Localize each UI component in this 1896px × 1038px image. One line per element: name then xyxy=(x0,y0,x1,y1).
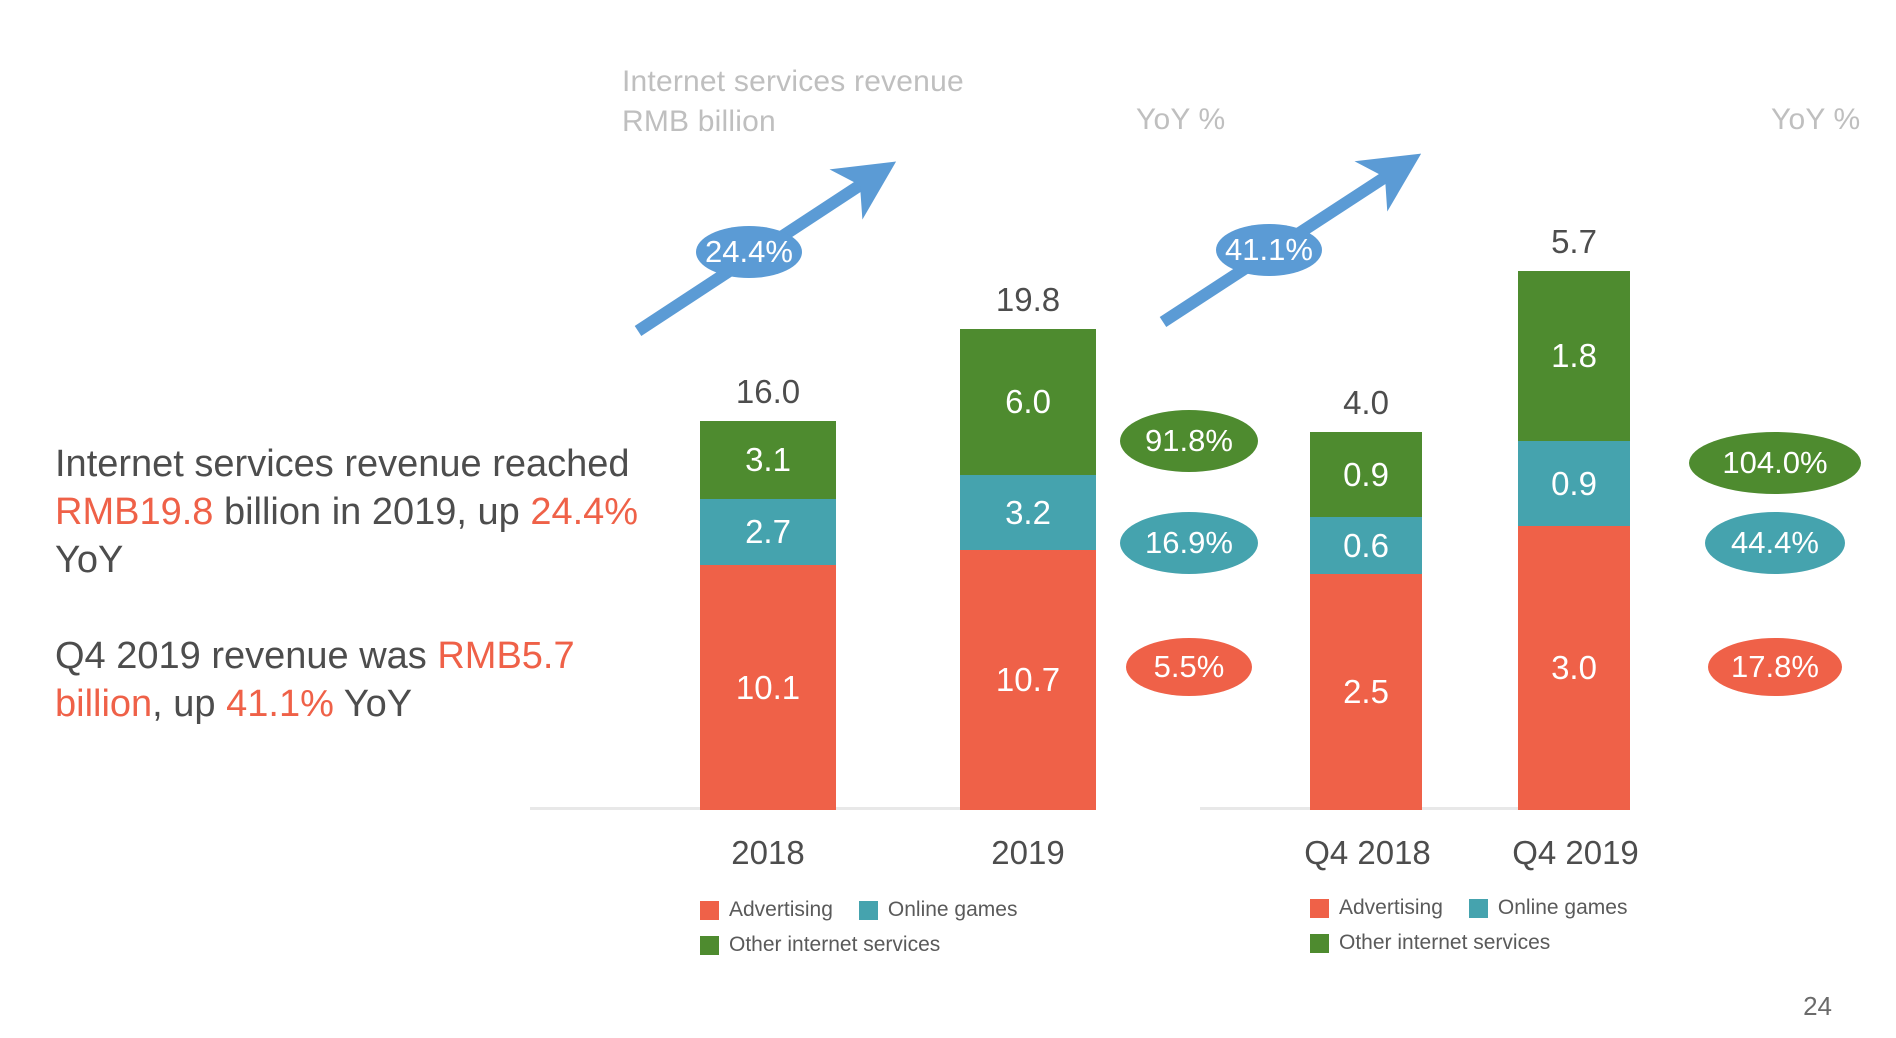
slide: Internet services revenue RMB billion Yo… xyxy=(0,0,1896,1038)
x-tick-2019: 2019 xyxy=(960,834,1096,872)
bar-segment-label: 2.5 xyxy=(1343,673,1389,711)
bar-segment-label: 3.2 xyxy=(1005,494,1051,532)
bar-segment-label: 3.0 xyxy=(1551,649,1597,687)
bar-segment-other-services-q4-2019[interactable]: 1.8 xyxy=(1518,271,1630,441)
legend-swatch-advertising-icon xyxy=(1310,899,1329,918)
narrative-p1-part1: Internet services revenue reached xyxy=(55,443,630,485)
yoy-badge-advertising-quarterly: 17.8% xyxy=(1708,638,1842,696)
narrative-p1-part2: billion in 2019, up xyxy=(213,491,530,533)
page-number: 24 xyxy=(1803,991,1832,1022)
chart-quarterly: 41.1% 2.5 0.6 0.9 4.0 3.0 xyxy=(1255,0,1896,1038)
narrative-p2-part2: , up xyxy=(152,683,226,725)
bar-segment-other-services-2019[interactable]: 6.0 xyxy=(960,329,1096,475)
bar-2019[interactable]: 10.7 3.2 6.0 19.8 xyxy=(960,329,1096,810)
bar-segment-advertising-2018[interactable]: 10.1 xyxy=(700,565,836,810)
legend-label-other-services: Other internet services xyxy=(1339,931,1550,955)
legend-item-advertising[interactable]: Advertising xyxy=(1310,896,1443,920)
x-tick-2018: 2018 xyxy=(700,834,836,872)
legend-row-1: Advertising Online games xyxy=(1310,896,1653,920)
legend-row-1: Advertising Online games xyxy=(700,898,1043,922)
narrative-paragraph-1: Internet services revenue reached RMB19.… xyxy=(55,440,675,584)
bar-segment-label: 10.1 xyxy=(736,669,800,707)
bar-segment-advertising-q4-2019[interactable]: 3.0 xyxy=(1518,526,1630,810)
legend-item-other-services[interactable]: Other internet services xyxy=(1310,931,1550,955)
narrative-paragraph-2: Q4 2019 revenue was RMB5.7 billion, up 4… xyxy=(55,632,675,728)
bar-segment-label: 1.8 xyxy=(1551,337,1597,375)
legend-swatch-online-games-icon xyxy=(859,901,878,920)
bar-segment-advertising-2019[interactable]: 10.7 xyxy=(960,550,1096,810)
bar-segment-label: 6.0 xyxy=(1005,383,1051,421)
bar-total-label-2019: 19.8 xyxy=(960,281,1096,319)
narrative-p1-highlight-rmb: RMB19.8 xyxy=(55,491,213,533)
bar-segment-other-services-2018[interactable]: 3.1 xyxy=(700,421,836,499)
legend-quarterly: Advertising Online games Other internet … xyxy=(1310,896,1653,966)
bar-segment-other-services-q4-2018[interactable]: 0.9 xyxy=(1310,432,1422,517)
bar-segment-label: 0.9 xyxy=(1551,465,1597,503)
legend-item-online-games[interactable]: Online games xyxy=(1469,896,1628,920)
narrative-p2-highlight-growth: 41.1% xyxy=(226,683,334,725)
x-tick-q4-2019: Q4 2019 xyxy=(1493,834,1658,872)
bar-q4-2018[interactable]: 2.5 0.6 0.9 4.0 xyxy=(1310,432,1422,810)
narrative-p2-part3: YoY xyxy=(334,683,412,725)
legend-item-other-services[interactable]: Other internet services xyxy=(700,933,940,957)
legend-label-advertising: Advertising xyxy=(729,898,833,922)
bar-segment-online-games-2019[interactable]: 3.2 xyxy=(960,475,1096,550)
bar-segment-label: 2.7 xyxy=(745,513,791,551)
legend-swatch-other-services-icon xyxy=(1310,934,1329,953)
bar-2018[interactable]: 10.1 2.7 3.1 16.0 xyxy=(700,421,836,810)
bar-total-label-q4-2018: 4.0 xyxy=(1310,384,1422,422)
legend-swatch-other-services-icon xyxy=(700,936,719,955)
yoy-badge-online-games-annual: 16.9% xyxy=(1120,512,1258,574)
legend-label-other-services: Other internet services xyxy=(729,933,940,957)
bar-segment-advertising-q4-2018[interactable]: 2.5 xyxy=(1310,574,1422,810)
x-tick-q4-2018: Q4 2018 xyxy=(1285,834,1450,872)
yoy-badge-other-services-annual: 91.8% xyxy=(1120,410,1258,472)
legend-annual: Advertising Online games Other internet … xyxy=(700,898,1043,968)
legend-label-online-games: Online games xyxy=(888,898,1018,922)
chart-annual: 24.4% 10.1 2.7 3.1 16.0 10.7 xyxy=(620,0,1200,1038)
bar-total-label-2018: 16.0 xyxy=(700,373,836,411)
bar-segment-label: 0.9 xyxy=(1343,456,1389,494)
bar-segment-label: 3.1 xyxy=(745,441,791,479)
legend-label-online-games: Online games xyxy=(1498,896,1628,920)
bar-total-label-q4-2019: 5.7 xyxy=(1518,223,1630,261)
plot-area-annual: 10.1 2.7 3.1 16.0 10.7 3.2 6.0 xyxy=(620,0,1200,810)
legend-row-2: Other internet services xyxy=(700,933,1043,957)
narrative-p2-part1: Q4 2019 revenue was xyxy=(55,635,437,677)
bar-q4-2019[interactable]: 3.0 0.9 1.8 5.7 xyxy=(1518,271,1630,810)
legend-item-advertising[interactable]: Advertising xyxy=(700,898,833,922)
yoy-badge-online-games-quarterly: 44.4% xyxy=(1705,512,1845,574)
legend-row-2: Other internet services xyxy=(1310,931,1653,955)
legend-swatch-advertising-icon xyxy=(700,901,719,920)
legend-item-online-games[interactable]: Online games xyxy=(859,898,1018,922)
legend-label-advertising: Advertising xyxy=(1339,896,1443,920)
narrative-p1-part3: YoY xyxy=(55,539,123,581)
bar-segment-label: 10.7 xyxy=(996,661,1060,699)
yoy-badge-other-services-quarterly: 104.0% xyxy=(1689,432,1861,494)
narrative-text: Internet services revenue reached RMB19.… xyxy=(55,440,675,728)
legend-swatch-online-games-icon xyxy=(1469,899,1488,918)
bar-segment-online-games-q4-2019[interactable]: 0.9 xyxy=(1518,441,1630,526)
bar-segment-label: 0.6 xyxy=(1343,527,1389,565)
yoy-badge-advertising-annual: 5.5% xyxy=(1126,638,1252,696)
bar-segment-online-games-2018[interactable]: 2.7 xyxy=(700,499,836,565)
bar-segment-online-games-q4-2018[interactable]: 0.6 xyxy=(1310,517,1422,574)
